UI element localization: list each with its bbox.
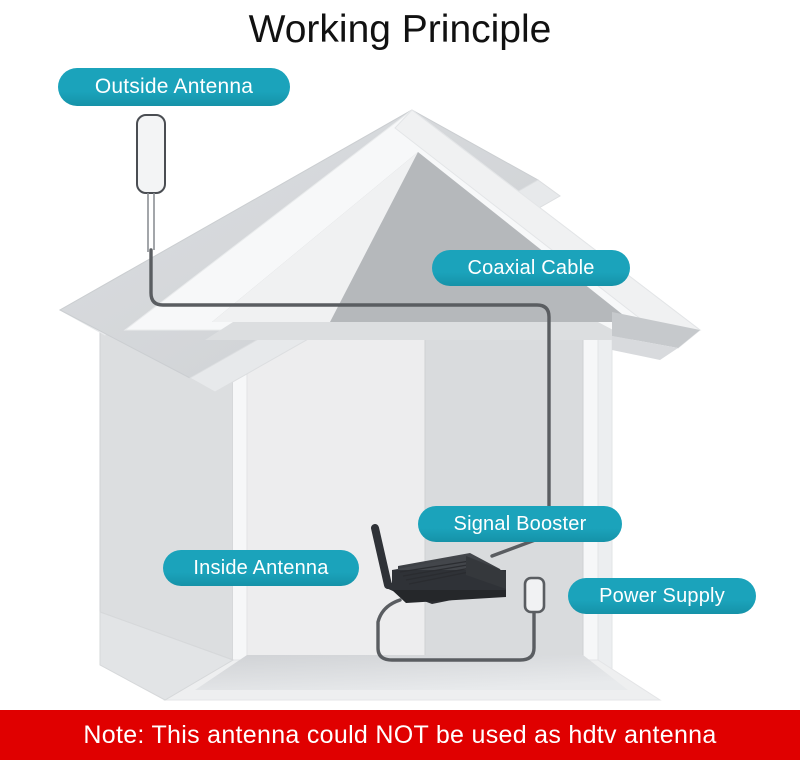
label-coaxial-cable-text: Coaxial Cable [467,257,594,280]
label-outside-antenna-text: Outside Antenna [95,75,253,99]
outside-antenna-panel [137,115,165,252]
power-adapter [525,578,544,612]
right-wall-edge [598,312,612,682]
label-coaxial-cable[interactable]: Coaxial Cable [432,250,630,286]
label-power-supply[interactable]: Power Supply [568,578,756,614]
interior-back-wall [233,322,598,682]
diagram-canvas: Working Principle [0,0,800,760]
label-power-supply-text: Power Supply [599,585,725,608]
label-inside-antenna[interactable]: Inside Antenna [163,550,359,586]
label-outside-antenna[interactable]: Outside Antenna [58,68,290,106]
note-banner-text: Note: This antenna could NOT be used as … [83,721,716,750]
working-principle-illustration [0,0,800,760]
label-inside-antenna-text: Inside Antenna [193,557,328,580]
note-banner: Note: This antenna could NOT be used as … [0,710,800,760]
label-signal-booster[interactable]: Signal Booster [418,506,622,542]
label-signal-booster-text: Signal Booster [454,513,587,536]
